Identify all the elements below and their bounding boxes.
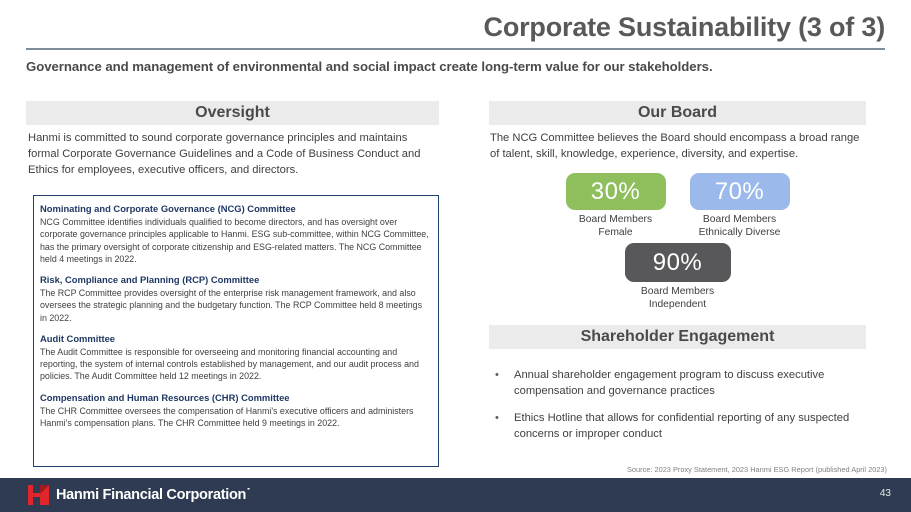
bullet-icon: • <box>492 411 514 443</box>
list-item-text: Annual shareholder engagement program to… <box>514 368 866 400</box>
stat-label: Board MembersIndependent <box>641 286 714 312</box>
footer-band: Hanmi Financial Corporation˙ 43 <box>0 478 911 512</box>
committee-description: NCG Committee identifies individuals qua… <box>40 216 431 265</box>
committee-name: Nominating and Corporate Governance (NCG… <box>40 203 431 215</box>
shareholder-bullet-list: • Annual shareholder engagement program … <box>492 368 866 454</box>
section-header-our-board: Our Board <box>489 101 866 125</box>
slide: Corporate Sustainability (3 of 3) Govern… <box>0 0 911 512</box>
committee-description: The Audit Committee is responsible for o… <box>40 346 431 383</box>
section-header-oversight: Oversight <box>26 101 439 125</box>
board-stats-row: 30% Board MembersFemale 70% Board Member… <box>489 173 866 240</box>
bullet-icon: • <box>492 368 514 400</box>
stat-board-members-independent: 90% Board MembersIndependent <box>489 243 866 312</box>
page-number: 43 <box>880 488 891 499</box>
stat-value-badge: 70% <box>690 173 790 210</box>
list-item: • Annual shareholder engagement program … <box>492 368 866 400</box>
stat-board-members-female: 30% Board MembersFemale <box>566 173 666 240</box>
page-subtitle: Governance and management of environment… <box>26 59 886 74</box>
committee-item: Audit Committee The Audit Committee is r… <box>40 333 431 383</box>
title-divider <box>26 48 885 50</box>
hanmi-h-logo-icon <box>28 485 49 505</box>
committee-name: Risk, Compliance and Planning (RCP) Comm… <box>40 274 431 286</box>
committee-description: The CHR Committee oversees the compensat… <box>40 405 431 429</box>
source-note: Source: 2023 Proxy Statement, 2023 Hanmi… <box>627 465 887 474</box>
stat-label: Board MembersEthnically Diverse <box>699 214 781 240</box>
company-logo: Hanmi Financial Corporation˙ <box>28 485 251 505</box>
section-header-shareholder-engagement: Shareholder Engagement <box>489 325 866 349</box>
committee-list-box: Nominating and Corporate Governance (NCG… <box>33 195 439 467</box>
stat-value-badge: 30% <box>566 173 666 210</box>
committee-item: Compensation and Human Resources (CHR) C… <box>40 392 431 430</box>
committee-item: Nominating and Corporate Governance (NCG… <box>40 203 431 265</box>
stat-label: Board MembersFemale <box>579 214 652 240</box>
stat-value-badge: 90% <box>625 243 731 282</box>
page-title: Corporate Sustainability (3 of 3) <box>484 12 885 43</box>
list-item: • Ethics Hotline that allows for confide… <box>492 411 866 443</box>
committee-name: Audit Committee <box>40 333 431 345</box>
our-board-intro-text: The NCG Committee believes the Board sho… <box>490 131 862 163</box>
committee-name: Compensation and Human Resources (CHR) C… <box>40 392 431 404</box>
company-name: Hanmi Financial Corporation˙ <box>56 487 251 503</box>
oversight-intro-text: Hanmi is committed to sound corporate go… <box>28 131 428 179</box>
stat-board-members-ethnically-diverse: 70% Board MembersEthnically Diverse <box>690 173 790 240</box>
committee-item: Risk, Compliance and Planning (RCP) Comm… <box>40 274 431 324</box>
list-item-text: Ethics Hotline that allows for confident… <box>514 411 866 443</box>
committee-description: The RCP Committee provides oversight of … <box>40 287 431 324</box>
